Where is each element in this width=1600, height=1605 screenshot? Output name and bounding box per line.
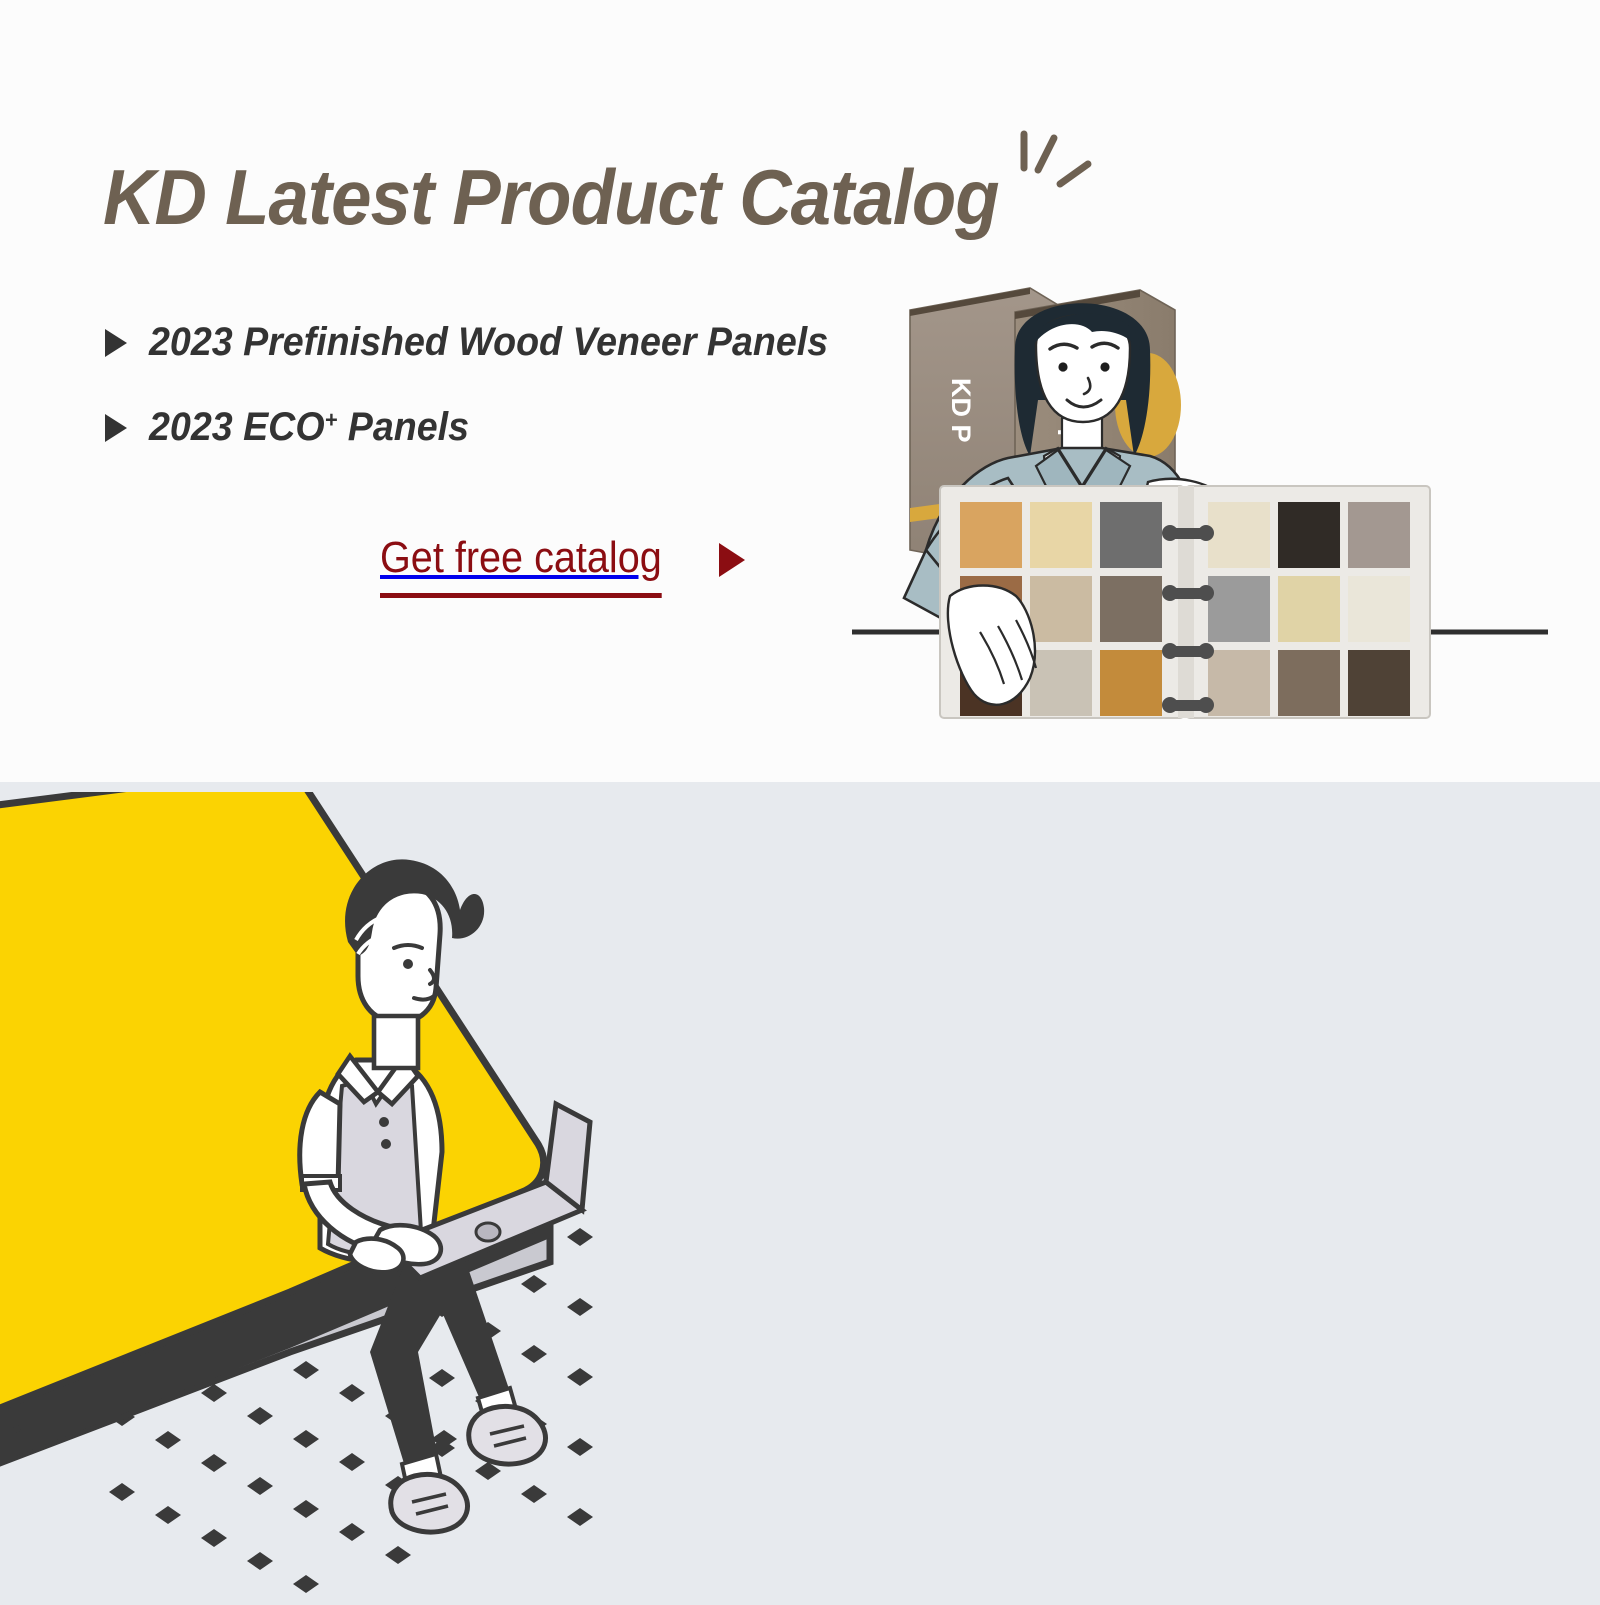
page-title: KD Latest Product Catalog xyxy=(103,152,999,243)
triangle-right-icon xyxy=(105,329,127,357)
swatch-grid-right xyxy=(1208,502,1410,716)
online-presentation-section: Only 10 minutes, lead you to the right m… xyxy=(0,782,1600,1605)
feature-label-0: 2023 Prefinished Wood Veneer Panels xyxy=(149,320,828,365)
catalog-hero-section: KD Latest Product Catalog 2023 Prefinish… xyxy=(0,0,1600,782)
consultant-with-sample-book-illustration: KD P xyxy=(830,250,1570,750)
svg-text:KD P: KD P xyxy=(946,378,976,443)
feature-item-1: 2023 ECO+ Panels xyxy=(105,405,489,450)
triangle-right-icon xyxy=(105,414,127,442)
sample-binder xyxy=(940,486,1430,718)
feature-label-1: 2023 ECO+ Panels xyxy=(149,405,469,450)
sparkle-icon xyxy=(1008,128,1098,208)
catalog-promo-page: KD Latest Product Catalog 2023 Prefinish… xyxy=(0,0,1600,1605)
feature-label-1-superscript: + xyxy=(325,406,338,432)
cta-label: Get free catalog xyxy=(380,533,662,598)
feature-label-1-prefix: 2023 ECO xyxy=(149,405,325,449)
man-with-laptop-on-yellow-phone-illustration xyxy=(0,792,630,1605)
get-free-catalog-link[interactable]: Get free catalog xyxy=(380,533,745,598)
feature-label-1-suffix: Panels xyxy=(337,405,469,449)
feature-item-0: 2023 Prefinished Wood Veneer Panels xyxy=(105,320,872,365)
triangle-right-icon xyxy=(719,543,745,577)
